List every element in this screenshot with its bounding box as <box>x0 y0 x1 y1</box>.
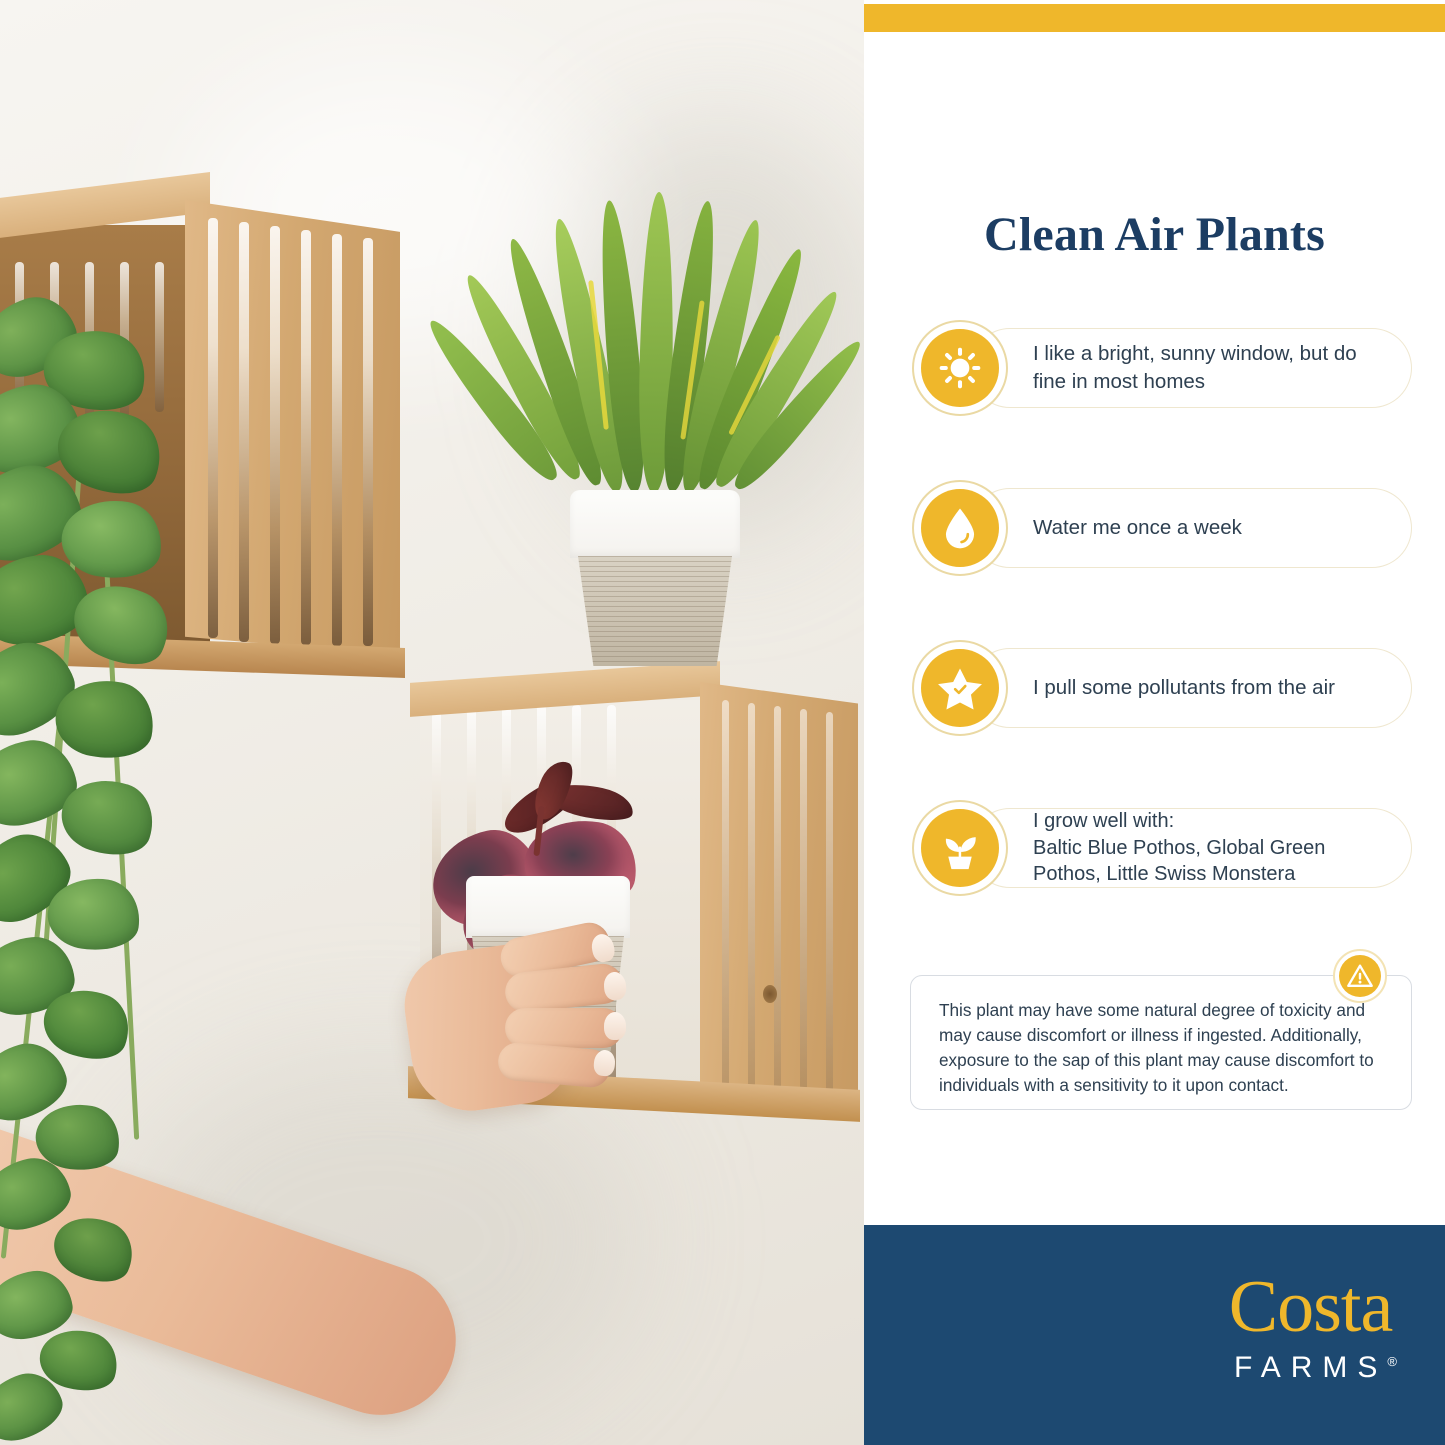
slat <box>774 706 781 1106</box>
feature-text: Water me once a week <box>971 514 1264 542</box>
page-title: Clean Air Plants <box>864 207 1445 262</box>
feature-pill: Water me once a week <box>970 488 1412 568</box>
warning-triangle-icon-badge <box>1333 949 1387 1003</box>
toxicity-warning-card: This plant may have some natural degree … <box>910 975 1412 1110</box>
feature-row-pollutants: I pull some pollutants from the air <box>912 640 1412 736</box>
logo-wordmark-farms: FARMS® <box>1224 1351 1397 1385</box>
slat <box>208 218 218 638</box>
info-panel: Clean Air Plants I like a bright, sunny … <box>864 0 1445 1445</box>
gold-top-bar <box>864 4 1445 32</box>
feature-row-companions: I grow well with: Baltic Blue Pothos, Gl… <box>912 800 1412 896</box>
pot-upper-band <box>570 490 740 558</box>
slat <box>155 262 164 412</box>
logo-farms-text: FARMS <box>1234 1351 1387 1384</box>
brand-footer: Costa FARMS® <box>864 1225 1445 1445</box>
slat <box>332 234 342 646</box>
slat <box>748 703 755 1103</box>
slat <box>722 700 729 1100</box>
slat <box>826 712 833 1108</box>
star-check-icon-badge <box>912 640 1008 736</box>
water-drop-icon <box>921 489 999 567</box>
pot-lower-band <box>578 556 732 666</box>
feature-text: I grow well with: Baltic Blue Pothos, Gl… <box>971 808 1411 888</box>
warning-triangle-icon <box>1339 955 1381 997</box>
star-check-icon <box>921 649 999 727</box>
feature-text: I pull some pollutants from the air <box>971 674 1357 702</box>
pot-upper-band <box>466 876 630 938</box>
feature-row-light: I like a bright, sunny window, but do fi… <box>912 320 1412 416</box>
potted-plant-icon <box>921 809 999 887</box>
feature-pill: I grow well with: Baltic Blue Pothos, Gl… <box>970 808 1412 888</box>
sun-icon-badge <box>912 320 1008 416</box>
feature-pill: I like a bright, sunny window, but do fi… <box>970 328 1412 408</box>
sun-icon <box>921 329 999 407</box>
slat <box>239 222 249 642</box>
feature-text: I like a bright, sunny window, but do fi… <box>971 340 1411 397</box>
potted-plant-icon-badge <box>912 800 1008 896</box>
feature-pill: I pull some pollutants from the air <box>970 648 1412 728</box>
wood-knot <box>763 985 777 1003</box>
registered-trademark-symbol: ® <box>1387 1354 1397 1369</box>
costa-farms-logo: Costa FARMS® <box>1224 1273 1397 1385</box>
feature-row-water: Water me once a week <box>912 480 1412 576</box>
slat <box>270 226 280 644</box>
product-infographic: Clean Air Plants I like a bright, sunny … <box>0 0 1445 1445</box>
slat <box>301 230 311 645</box>
water-drop-icon-badge <box>912 480 1008 576</box>
toxicity-warning-text: This plant may have some natural degree … <box>911 976 1411 1098</box>
fingernail <box>604 1012 626 1040</box>
logo-wordmark-costa: Costa <box>1224 1273 1397 1341</box>
lifestyle-photo <box>0 0 864 1445</box>
slat <box>800 709 807 1107</box>
slat <box>363 238 373 646</box>
